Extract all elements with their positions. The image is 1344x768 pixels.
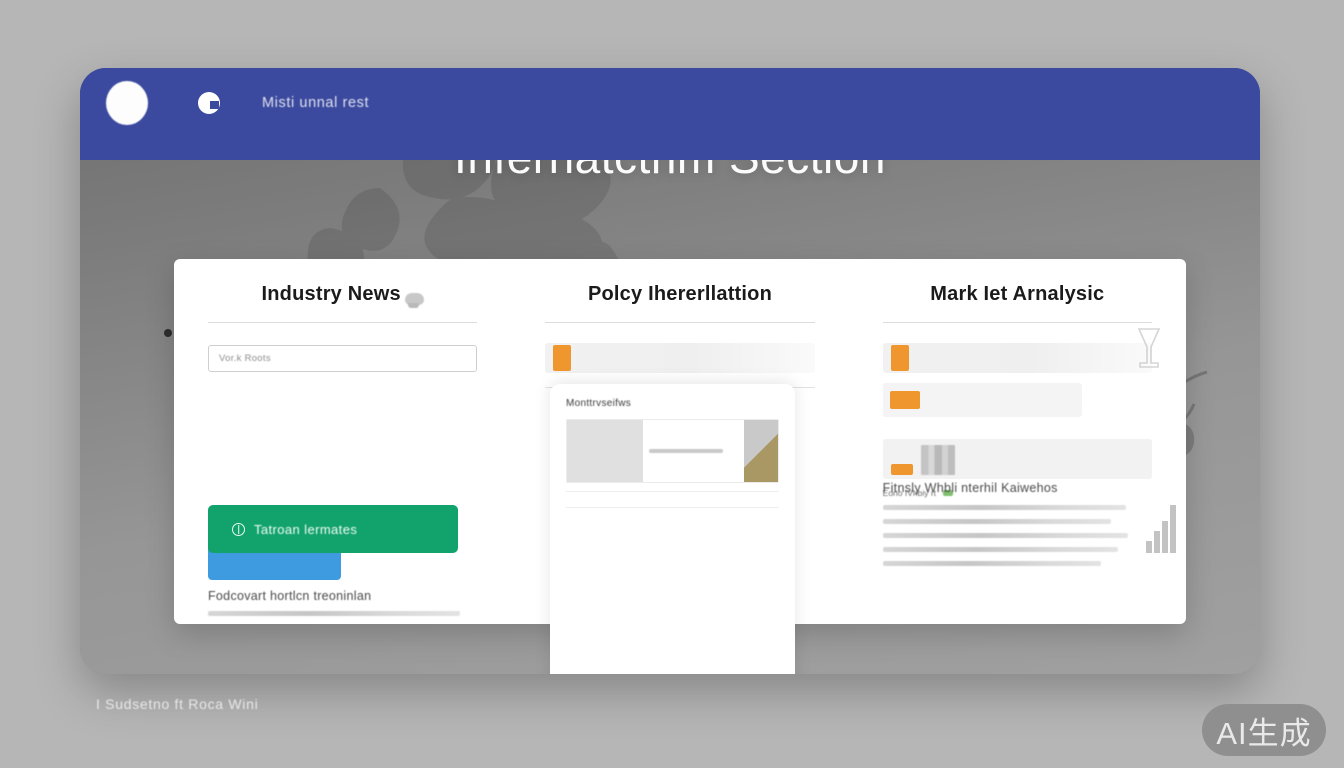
document-preview-title: Monttrvseifws <box>566 398 779 409</box>
card-title-text: Mark Iet Arnalysic <box>930 283 1104 306</box>
card-title-market-analysis: Mark Iet Arnalysic <box>883 283 1152 306</box>
cloud-badge-icon <box>405 293 424 305</box>
document-preview[interactable]: Monttrvseifws <box>550 384 795 674</box>
accent-chip <box>891 345 909 371</box>
divider <box>545 322 814 323</box>
search-input-placeholder: Vor.k Roots <box>219 353 271 364</box>
media-row[interactable] <box>883 439 1152 479</box>
card-market-analysis: Mark Iet Arnalysic <box>849 259 1186 624</box>
nav-title-label: Misti unnal rest <box>262 95 369 111</box>
accent-chip <box>553 345 571 371</box>
pac-circle-icon[interactable] <box>198 92 220 114</box>
plus-circle-icon <box>232 523 245 536</box>
accent-chip <box>891 464 913 475</box>
card-title-industry-news: Industry News <box>208 283 477 306</box>
ai-generated-watermark: AI生成 <box>1202 704 1326 756</box>
divider <box>883 322 1152 323</box>
primary-action-button-label: Tatroan lermates <box>254 522 357 537</box>
footer-caption: I Sudsetno ft Roca Wini <box>96 696 258 712</box>
card-title-policy-interpretation: Polcy Ihererllattion <box>545 283 814 306</box>
circle-logo-icon[interactable] <box>106 81 148 125</box>
body-text-block <box>208 611 460 624</box>
section-heading-market: Fitnsly Whbli nterhil Kaiwehos <box>883 481 1058 495</box>
building-columns-icon <box>921 445 955 475</box>
body-text-block <box>883 505 1131 575</box>
document-hero-image <box>566 419 779 483</box>
list-item[interactable] <box>545 343 814 373</box>
search-input[interactable]: Vor.k Roots <box>208 345 477 372</box>
wine-glass-icon <box>1136 327 1162 369</box>
list-item[interactable] <box>883 343 1152 373</box>
bullet-dot <box>164 329 172 337</box>
document-columns <box>566 491 779 499</box>
section-heading-forecast: Fodcovart hortlcn treoninlan <box>208 589 371 603</box>
accent-chip <box>890 391 920 409</box>
primary-action-button[interactable]: Tatroan lermates <box>208 505 458 553</box>
browser-window-frame: Misti unnal rest Infernatcthm Section In… <box>80 68 1260 674</box>
divider <box>208 322 477 323</box>
window-title-bar: Misti unnal rest <box>80 68 1260 160</box>
card-title-text: Polcy Ihererllattion <box>588 283 772 306</box>
document-columns <box>566 507 779 515</box>
list-item[interactable] <box>883 383 1082 417</box>
card-industry-news: Industry News Vor.k Roots Tatroan lermat… <box>174 259 511 624</box>
card-title-text: Industry News <box>262 283 401 306</box>
factory-skyline-icon <box>1144 503 1178 555</box>
